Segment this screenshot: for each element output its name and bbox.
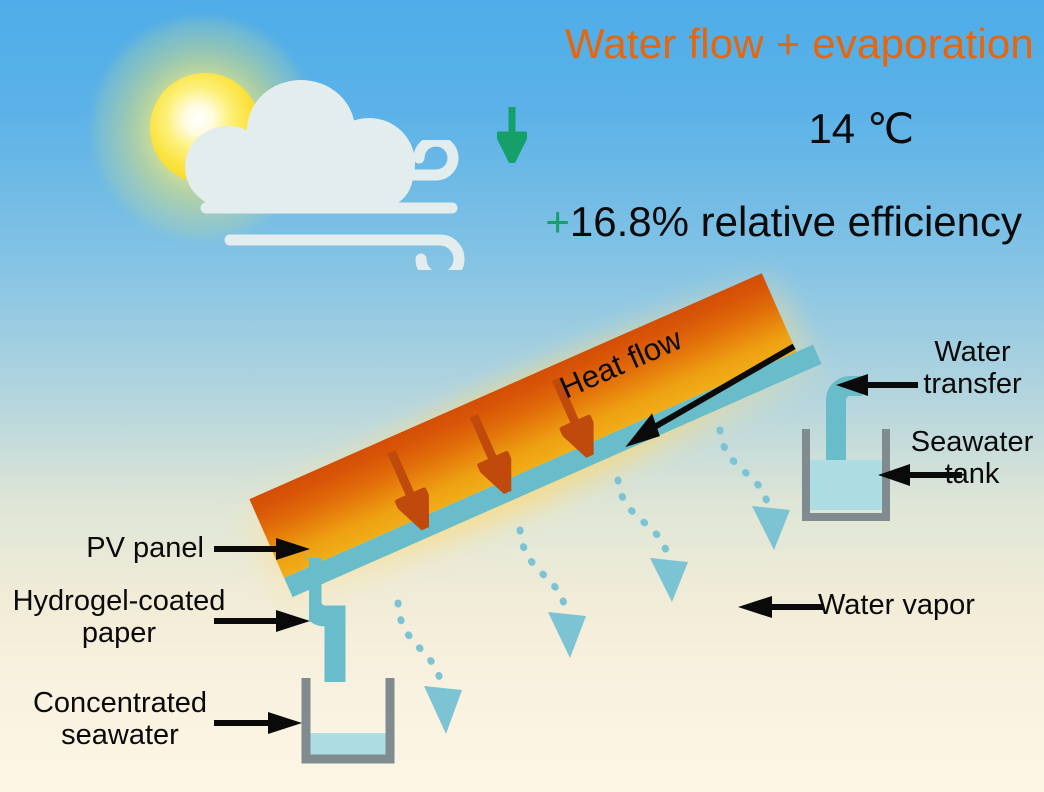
label-concentrated-seawater: Concentrated seawater	[0, 687, 240, 752]
leader-arrow-icon	[214, 536, 314, 567]
label-concentrated-seawater-line1: Concentrated	[0, 687, 240, 719]
leader-arrow-icon	[878, 462, 962, 493]
label-water-vapor: Water vapor	[818, 589, 975, 621]
diagram-canvas: Water flow + evaporation 14 ℃ +16.8% rel…	[0, 0, 1044, 792]
leader-arrow-icon	[214, 710, 306, 741]
label-water-transfer: Water transfer	[905, 336, 1040, 401]
label-hydrogel-paper: Hydrogel-coated paper	[0, 585, 238, 650]
leader-arrow-icon	[214, 608, 314, 639]
label-water-transfer-line2: transfer	[905, 368, 1040, 400]
label-hydrogel-paper-line2: paper	[0, 617, 238, 649]
label-pv-panel: PV panel	[0, 532, 204, 564]
label-seawater-tank-line1: Seawater	[900, 426, 1044, 458]
label-concentrated-seawater-line2: seawater	[0, 719, 240, 751]
label-hydrogel-paper-line1: Hydrogel-coated	[0, 585, 238, 617]
leader-arrow-icon	[738, 594, 824, 625]
leader-arrow-icon	[836, 372, 918, 403]
label-water-transfer-line1: Water	[905, 336, 1040, 368]
